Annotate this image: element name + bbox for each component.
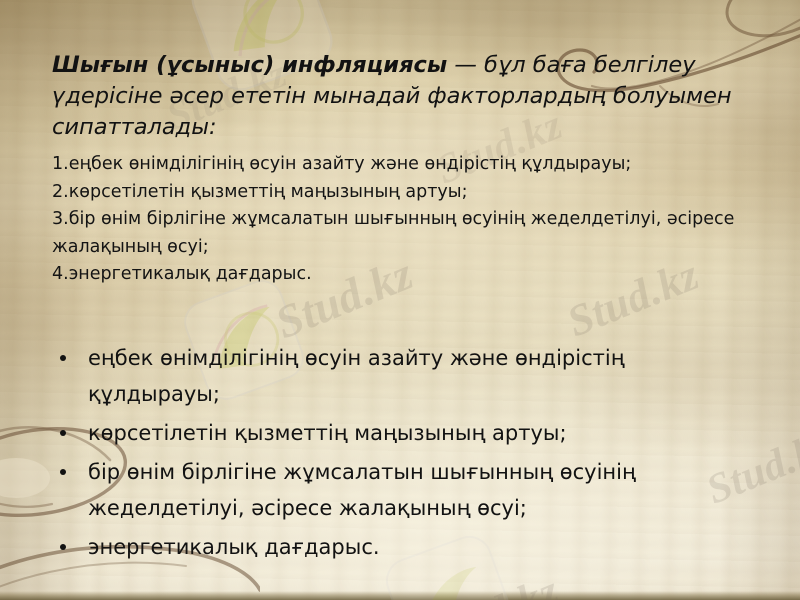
numbered-list-item: 3.бір өнім бірлігіне жұмсалатын шығынның… [52,206,762,261]
heading-dash: — [447,52,484,78]
list-item-label: бір өнім бірлігіне жұмсалатын шығынның ө… [88,460,636,520]
numbered-list-item: 2.көрсетілетін қызметтің маңызының артуы… [52,179,762,207]
list-item-label: энергетикалық дағдарыс. [88,535,380,559]
bullet-dot-icon [60,544,66,550]
bullet-dot-icon [60,355,66,361]
heading-term: Шығын (ұсыныс) инфляциясы [52,52,447,78]
bullet-list: еңбек өнімділігінің өсуін азайту және өн… [52,340,692,568]
numbered-list-item: 4.энергетикалық дағдарыс. [52,261,762,289]
numbered-list-item: 1.еңбек өнімділігінің өсуін азайту және … [52,151,762,179]
numbered-list: 1.еңбек өнімділігінің өсуін азайту және … [52,151,762,289]
slide-content: Шығын (ұсыныс) инфляциясы — бұл баға бел… [0,0,800,600]
list-item-label: еңбек өнімділігінің өсуін азайту және өн… [88,346,625,406]
list-item: еңбек өнімділігінің өсуін азайту және өн… [52,340,692,412]
list-item: бір өнім бірлігіне жұмсалатын шығынның ө… [52,454,692,526]
bullet-dot-icon [60,469,66,475]
slide-heading: Шығын (ұсыныс) инфляциясы — бұл баға бел… [52,50,752,143]
list-item-label: көрсетілетін қызметтің маңызының артуы; [88,421,567,445]
slide-canvas: Stud.kz Stud.kz Stud.kz Stud.kz Stud.kz … [0,0,800,600]
bullet-dot-icon [60,430,66,436]
list-item: энергетикалық дағдарыс. [52,529,692,565]
list-item: көрсетілетін қызметтің маңызының артуы; [52,415,692,451]
